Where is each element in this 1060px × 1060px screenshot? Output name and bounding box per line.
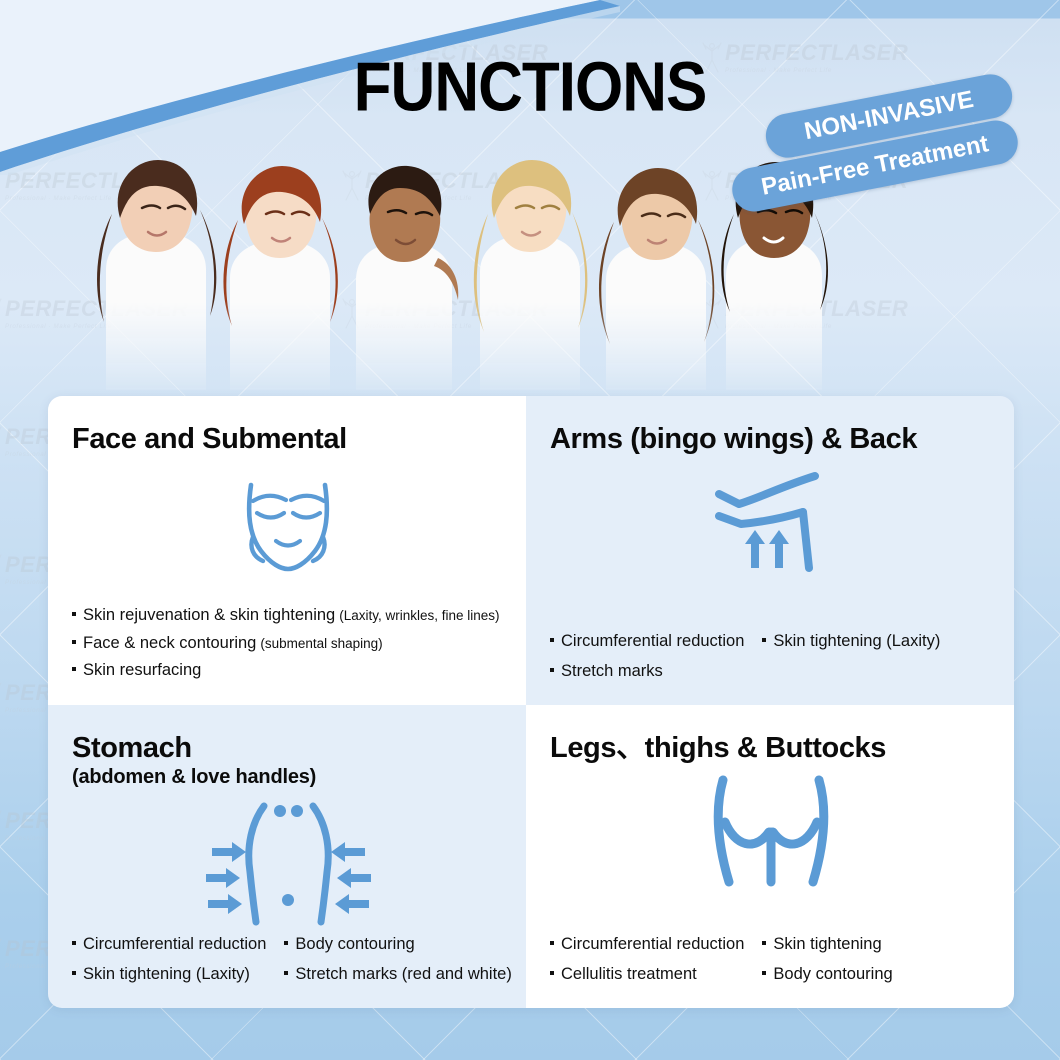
list-item: Stretch marks	[550, 658, 744, 685]
card-bullets: Circumferential reduction Skin tightenin…	[550, 931, 998, 988]
list-item: Skin resurfacing	[72, 657, 510, 684]
bullet-text: Skin tightening	[773, 931, 881, 958]
buttocks-legs-icon	[550, 769, 992, 909]
bullet-note: (submental shaping)	[260, 633, 382, 655]
waist-arrows-icon	[72, 795, 504, 935]
bullet-text: Cellulitis treatment	[561, 961, 697, 988]
bullet-text: Skin tightening (Laxity)	[83, 961, 250, 988]
list-item: Circumferential reduction	[550, 931, 744, 958]
bullet-marker-icon	[550, 971, 554, 975]
functions-panel: Face and Submental	[48, 396, 1014, 1008]
arm-lift-icon	[550, 464, 992, 582]
bullet-marker-icon	[550, 941, 554, 945]
card-legs-thighs-buttocks: Legs、thighs & Buttocks Circumferential r…	[526, 705, 1014, 1008]
perfectlaser-logo-icon	[0, 552, 2, 586]
perfectlaser-logo-icon	[0, 296, 2, 330]
poster-root: PERFECTLASERProfessional · Make Perfect …	[0, 0, 1060, 1060]
card-face-and-submental: Face and Submental	[48, 396, 526, 705]
bullet-marker-icon	[762, 971, 766, 975]
bullet-marker-icon	[72, 971, 76, 975]
list-item: Skin tightening	[762, 931, 892, 958]
bullet-marker-icon	[72, 667, 76, 671]
bullet-text: Skin resurfacing	[83, 657, 201, 684]
bullet-note: (Laxity, wrinkles, fine lines)	[339, 605, 499, 627]
bullet-marker-icon	[72, 612, 76, 616]
list-item: Skin rejuvenation & skin tightening (Lax…	[72, 602, 510, 629]
card-bullets: Circumferential reduction Skin tightenin…	[550, 628, 998, 685]
bullet-text: Stretch marks (red and white)	[295, 961, 511, 988]
bullet-text: Body contouring	[295, 931, 414, 958]
bullet-marker-icon	[72, 640, 76, 644]
bullet-marker-icon	[284, 971, 288, 975]
perfectlaser-logo-icon	[0, 424, 2, 458]
list-item: Skin tightening (Laxity)	[72, 961, 266, 988]
bullet-text: Circumferential reduction	[561, 931, 744, 958]
list-item: Body contouring	[284, 931, 511, 958]
bullet-text: Body contouring	[773, 961, 892, 988]
perfectlaser-logo-icon	[0, 680, 2, 714]
perfectlaser-logo-icon	[0, 808, 2, 842]
card-title: Stomach	[72, 733, 504, 763]
bullet-text: Skin tightening (Laxity)	[773, 628, 940, 655]
list-item: Skin tightening (Laxity)	[762, 628, 940, 655]
list-item: Circumferential reduction	[72, 931, 266, 958]
bullet-marker-icon	[550, 668, 554, 672]
card-title: Face and Submental	[72, 424, 504, 454]
bullet-marker-icon	[762, 941, 766, 945]
card-title: Arms (bingo wings) & Back	[550, 424, 992, 454]
bullet-marker-icon	[72, 941, 76, 945]
card-arms-and-back: Arms (bingo wings) & Back	[526, 396, 1014, 705]
bullet-text: Stretch marks	[561, 658, 663, 685]
list-item: Body contouring	[762, 961, 892, 988]
bullet-marker-icon	[284, 941, 288, 945]
list-item: Cellulitis treatment	[550, 961, 744, 988]
list-item: Face & neck contouring (submental shapin…	[72, 630, 510, 657]
card-subtitle: (abdomen & love handles)	[72, 766, 504, 789]
bullet-text: Skin rejuvenation & skin tightening	[83, 602, 335, 629]
perfectlaser-logo-icon	[0, 168, 2, 202]
card-title: Legs、thighs & Buttocks	[550, 733, 992, 763]
bullet-text: Face & neck contouring	[83, 630, 256, 657]
card-stomach: Stomach (abdomen & love handles)	[48, 705, 526, 1008]
bullet-marker-icon	[550, 638, 554, 642]
bullet-text: Circumferential reduction	[83, 931, 266, 958]
perfectlaser-logo-icon	[0, 936, 2, 970]
card-bullets: Skin rejuvenation & skin tightening (Lax…	[72, 602, 510, 685]
badge-group: NON-INVASIVE Pain-Free Treatment	[714, 92, 1014, 232]
list-item: Stretch marks (red and white)	[284, 961, 511, 988]
face-outline-icon	[72, 464, 504, 582]
bullet-text: Circumferential reduction	[561, 628, 744, 655]
card-bullets: Circumferential reduction Body contourin…	[72, 931, 510, 988]
bullet-marker-icon	[762, 638, 766, 642]
list-item: Circumferential reduction	[550, 628, 744, 655]
